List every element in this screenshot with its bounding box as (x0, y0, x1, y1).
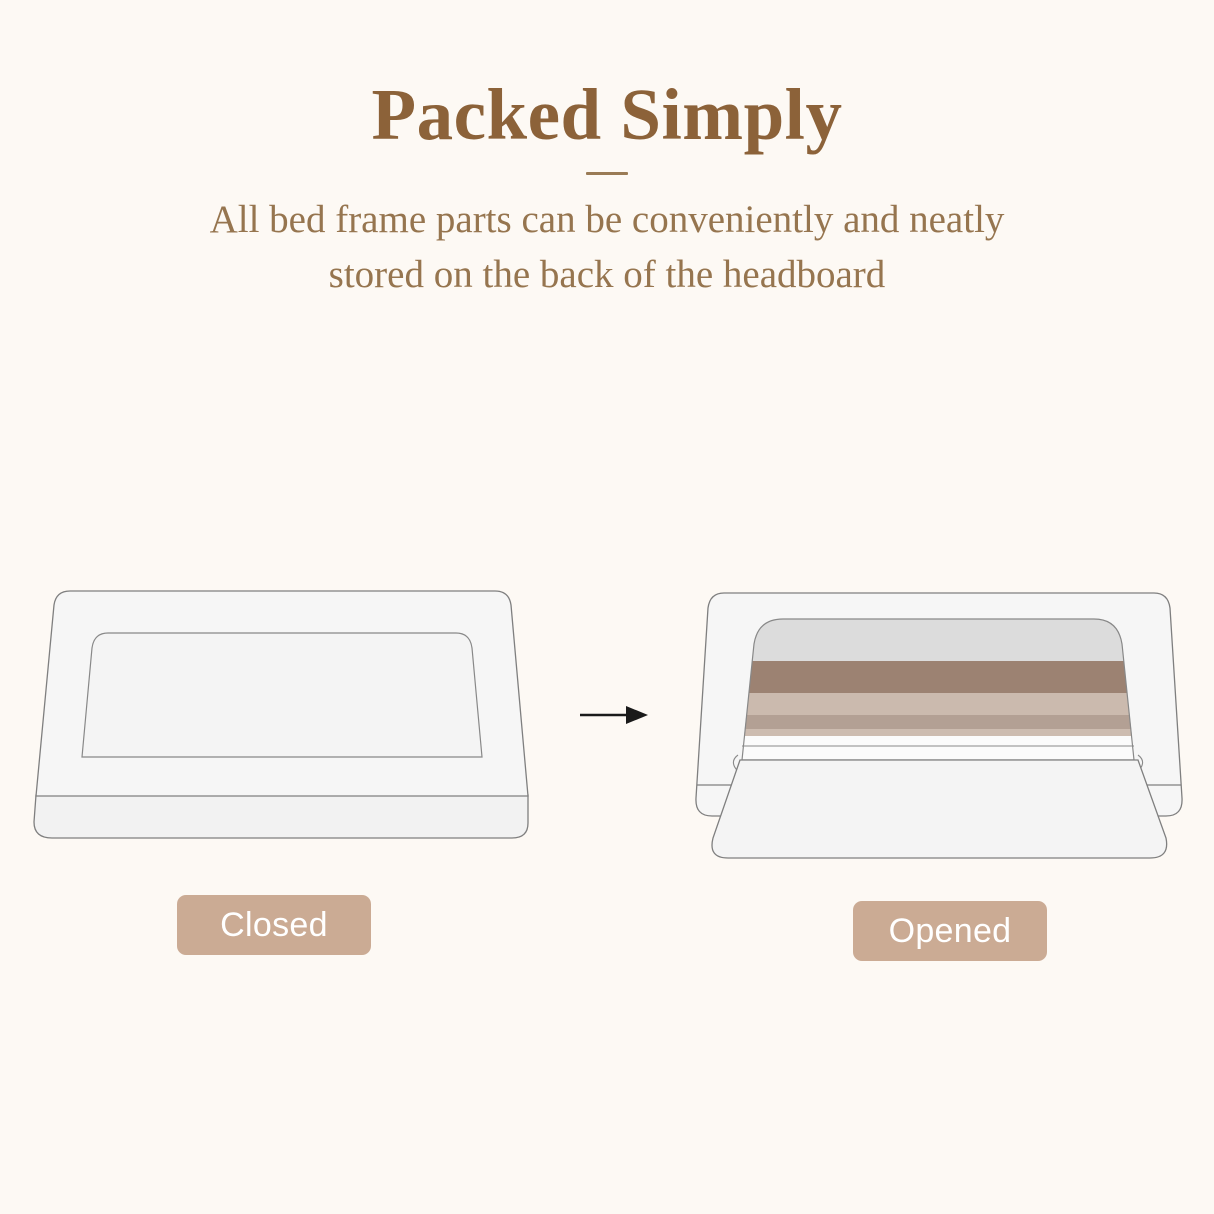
stored-part-dark-brown (735, 661, 1135, 693)
page-subtitle: All bed frame parts can be conveniently … (0, 175, 1214, 303)
status-badge-opened: Opened (853, 901, 1047, 961)
stored-part-light-tan (735, 693, 1135, 715)
stored-part-medium-brown (735, 715, 1135, 729)
illustration-headboard-opened (680, 570, 1200, 880)
page-title: Packed Simply (0, 0, 1214, 151)
closed-lid-panel (82, 633, 482, 757)
stored-parts-stack (735, 619, 1135, 741)
opened-flap-panel (712, 760, 1167, 858)
stored-part-top-gap (735, 619, 1135, 661)
infographic-page: Packed Simply All bed frame parts can be… (0, 0, 1214, 1214)
header: Packed Simply All bed frame parts can be… (0, 0, 1214, 303)
closed-front-edge (34, 795, 528, 838)
subtitle-line-2: stored on the back of the headboard (329, 253, 886, 296)
status-badge-closed: Closed (177, 895, 371, 955)
transition-arrow (570, 695, 660, 735)
arrow-head (626, 706, 648, 724)
illustration-headboard-closed (20, 570, 560, 870)
subtitle-line-1: All bed frame parts can be conveniently … (210, 198, 1005, 241)
